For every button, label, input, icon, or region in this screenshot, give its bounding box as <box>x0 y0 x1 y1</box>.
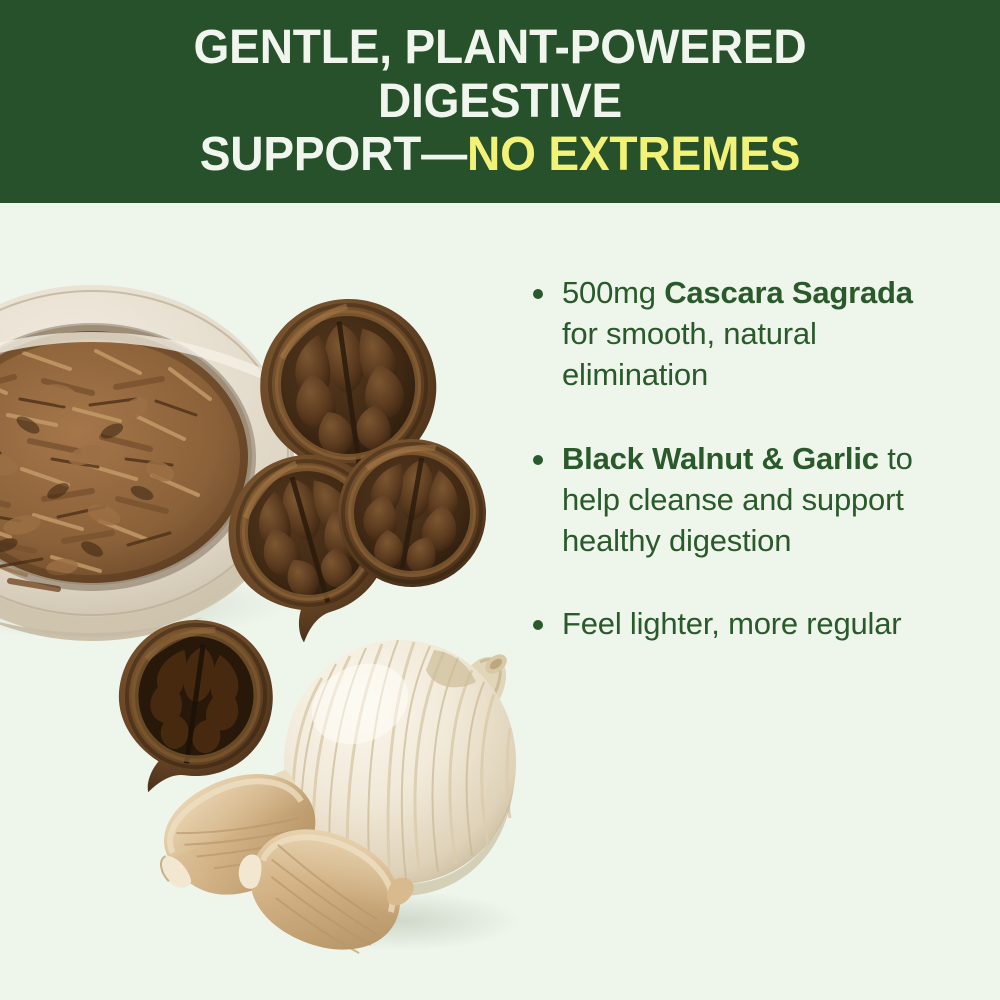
benefit-text-2: Black Walnut & Garlic to help cleanse an… <box>562 438 913 562</box>
promo-graphic: GENTLE, PLANT-POWERED DIGESTIVE SUPPORT—… <box>0 0 1000 1000</box>
headline-band: GENTLE, PLANT-POWERED DIGESTIVE SUPPORT—… <box>0 0 1000 203</box>
list-item: Feel lighter, more regular <box>533 603 913 644</box>
headline-line1: GENTLE, PLANT-POWERED DIGESTIVE <box>194 21 807 128</box>
bullet-dot-icon <box>533 455 543 465</box>
benefit-1-post: for smooth, natural elimination <box>562 316 817 392</box>
benefit-text-1: 500mg Cascara Sagrada for smooth, natura… <box>562 272 913 396</box>
benefit-text-3: Feel lighter, more regular <box>562 603 913 644</box>
ingredient-photo <box>0 203 533 1000</box>
bullet-dot-icon <box>533 620 543 630</box>
list-item: Black Walnut & Garlic to help cleanse an… <box>533 438 913 562</box>
benefit-list: 500mg Cascara Sagrada for smooth, natura… <box>533 272 913 645</box>
page-title: GENTLE, PLANT-POWERED DIGESTIVE SUPPORT—… <box>68 21 932 182</box>
benefit-1-bold: Cascara Sagrada <box>664 275 913 310</box>
benefit-1-pre: 500mg <box>562 275 664 310</box>
headline-line2-accent: NO EXTREMES <box>467 128 800 181</box>
bullet-dot-icon <box>533 289 543 299</box>
benefit-3-pre: Feel lighter, more regular <box>562 606 901 641</box>
benefit-2-bold: Black Walnut & Garlic <box>562 441 879 476</box>
list-item: 500mg Cascara Sagrada for smooth, natura… <box>533 272 913 396</box>
headline-line2-plain: SUPPORT— <box>200 128 467 181</box>
